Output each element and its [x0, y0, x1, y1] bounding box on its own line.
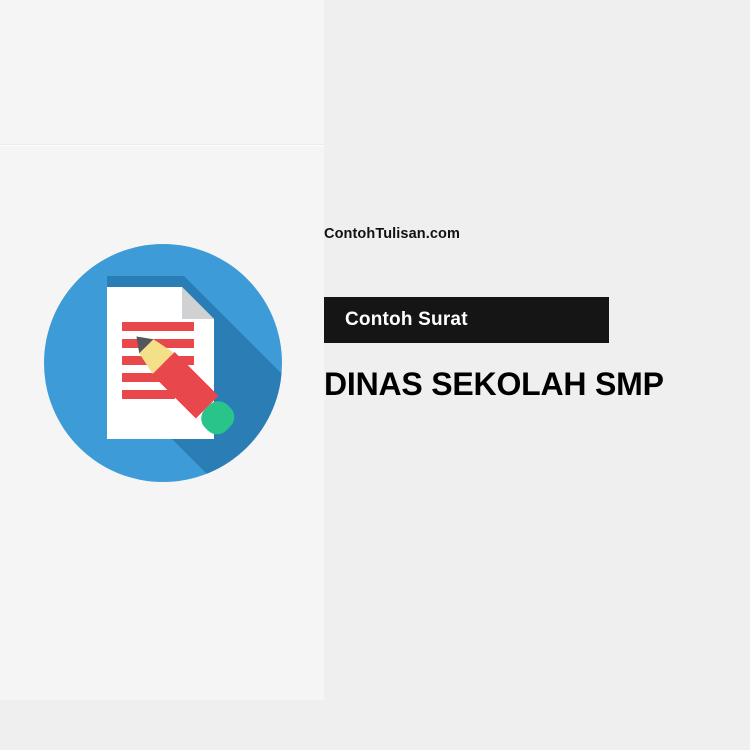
content-column: ContohTulisan.com Contoh Surat DINAS SEK… — [324, 0, 750, 750]
page-title: DINAS SEKOLAH SMP — [324, 362, 724, 407]
category-badge: Contoh Surat — [324, 297, 609, 343]
category-badge-label: Contoh Surat — [345, 309, 468, 331]
panel-divider — [0, 144, 324, 145]
site-name: ContohTulisan.com — [324, 226, 460, 242]
page-canvas: ContohTulisan.com Contoh Surat DINAS SEK… — [0, 0, 750, 750]
document-with-pencil-icon — [44, 244, 282, 482]
